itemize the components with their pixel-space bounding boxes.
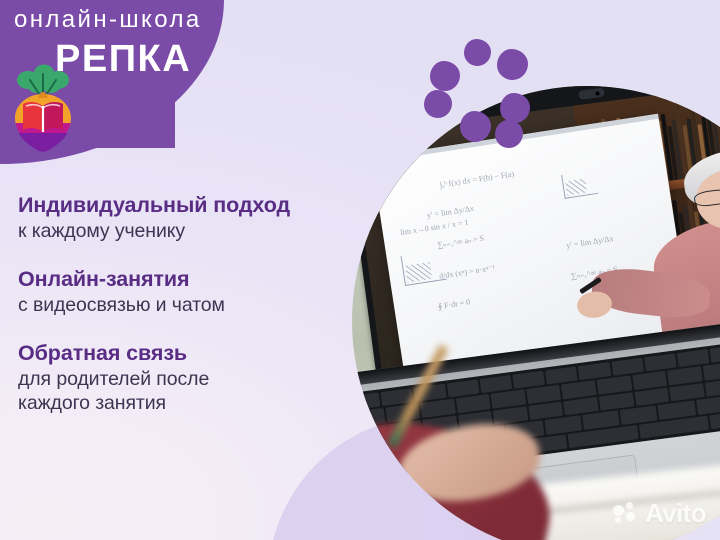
decorative-dot [424, 90, 452, 118]
brand-eyebrow: онлайн-школа [14, 8, 202, 32]
feature-subtitle: с видеосвязью и чатом [18, 294, 398, 318]
lesson-photo: ∫ₐᵇ f(x) dx = F(b) − F(a) y′ = lim Δy/Δx… [352, 86, 720, 540]
formula-text: ∑ₙ₌₁^∞ aₙ = S [437, 233, 485, 249]
turnip-with-book-icon [6, 60, 80, 154]
feature-item: Обратная связь для родителей после каждо… [18, 341, 398, 416]
feature-title: Индивидуальный подход [18, 193, 398, 217]
feature-title: Онлайн-занятия [18, 267, 398, 291]
decorative-dot [497, 49, 528, 80]
decorative-dot [464, 39, 491, 66]
formula-text: lim x→0 sin x / x = 1 [400, 218, 469, 237]
avito-watermark: Avito [613, 500, 706, 526]
decorative-dot [430, 61, 460, 91]
feature-title: Обратная связь [18, 341, 398, 365]
avito-dots-icon [613, 502, 639, 524]
feature-item: Онлайн-занятия с видеосвязью и чатом [18, 267, 398, 318]
graph-sketch [562, 170, 599, 199]
feature-subtitle: к каждому ученику [18, 220, 398, 244]
formula-text: ∫ₐᵇ f(x) dx = F(b) − F(a) [440, 169, 515, 189]
feature-list: Индивидуальный подход к каждому ученику … [18, 193, 398, 416]
graph-sketch [401, 250, 447, 286]
formula-text: d/dx (xⁿ) = n·xⁿ⁻¹ [439, 263, 496, 280]
feature-item: Индивидуальный подход к каждому ученику [18, 193, 398, 244]
formula-text: ∮ F·dr = 0 [438, 297, 471, 311]
formula-text: y′ = lim Δy/Δx [566, 234, 614, 250]
poster-canvas: ∫ₐᵇ f(x) dx = F(b) − F(a) y′ = lim Δy/Δx… [0, 0, 720, 540]
decorative-dot [500, 93, 530, 123]
feature-subtitle: для родителей после каждого занятия [18, 368, 398, 416]
photo-content: ∫ₐᵇ f(x) dx = F(b) − F(a) y′ = lim Δy/Δx… [352, 86, 720, 540]
laptop-trackpad [496, 455, 644, 540]
avito-wordmark: Avito [645, 500, 706, 526]
decorative-dot [460, 111, 491, 142]
decorative-dot [495, 120, 523, 148]
